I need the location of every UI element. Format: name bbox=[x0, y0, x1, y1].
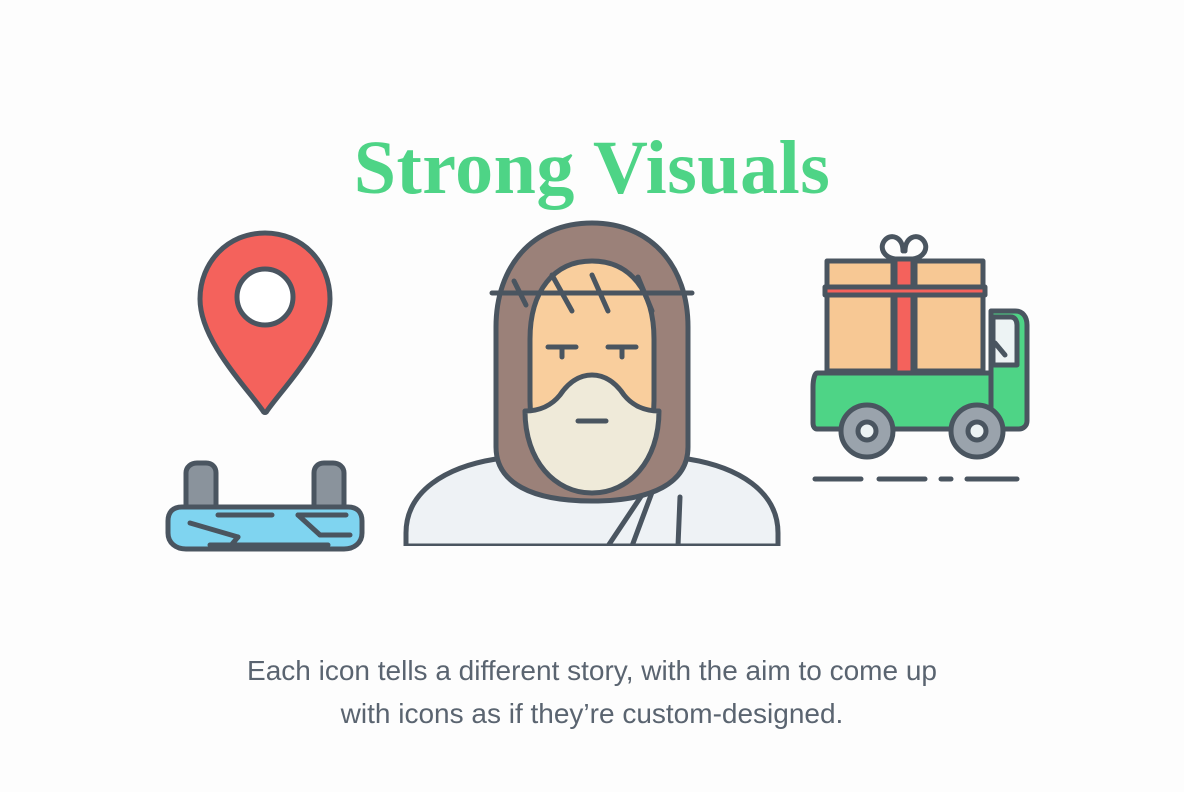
illustration-delivery-truck-gift bbox=[805, 215, 1035, 555]
page-title: Strong Visuals bbox=[0, 129, 1184, 209]
illustration-bearded-figure bbox=[392, 215, 792, 555]
location-pin-icon bbox=[200, 233, 330, 413]
gift-bow-icon bbox=[882, 237, 926, 259]
slide-canvas: Strong Visuals bbox=[0, 0, 1184, 792]
illustration-row bbox=[0, 215, 1184, 555]
caption-text: Each icon tells a different story, with … bbox=[92, 650, 1092, 735]
caption-line-2: with icons as if they’re custom-designed… bbox=[92, 693, 1092, 736]
map-icon bbox=[168, 463, 362, 549]
caption-line-1: Each icon tells a different story, with … bbox=[92, 650, 1092, 693]
illustration-map-location-pin bbox=[150, 215, 380, 555]
